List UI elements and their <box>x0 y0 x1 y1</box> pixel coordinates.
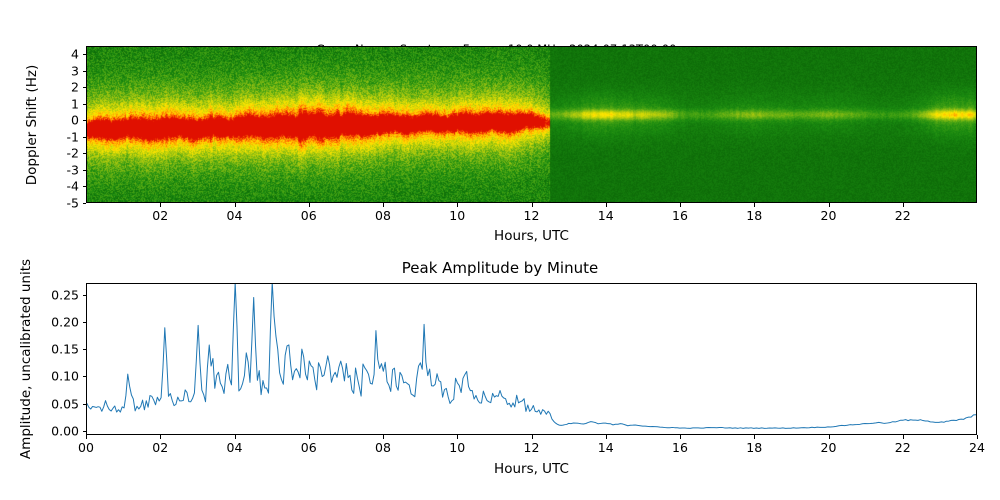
spectrogram-x-tick-label: 06 <box>301 208 317 223</box>
amplitude-x-tick-label: 00 <box>78 440 94 455</box>
amplitude-x-tick <box>829 435 830 439</box>
amplitude-y-tick <box>83 349 87 350</box>
amplitude-x-tick <box>235 435 236 439</box>
amplitude-y-tick <box>83 376 87 377</box>
amplitude-y-tick-label: 0.25 <box>42 287 79 302</box>
spectrogram-y-tick-label: -1 <box>46 129 79 144</box>
amplitude-x-tick-label: 22 <box>895 440 911 455</box>
amplitude-x-tick <box>383 435 384 439</box>
spectrogram-x-tick-label: 04 <box>227 208 243 223</box>
spectrogram-x-tick <box>903 203 904 207</box>
amplitude-y-axis-title: Amplitude, uncalibrated units <box>18 259 34 459</box>
spectrogram-x-tick-label: 08 <box>375 208 391 223</box>
amplitude-x-tick-label: 12 <box>524 440 540 455</box>
spectrogram-y-tick-label: -2 <box>46 146 79 161</box>
spectrogram-y-tick-label: 0 <box>46 113 79 128</box>
spectrogram-y-tick-label: -3 <box>46 162 79 177</box>
amplitude-x-tick-label: 08 <box>375 440 391 455</box>
amplitude-x-tick-label: 14 <box>598 440 614 455</box>
amplitude-line-chart <box>87 284 976 434</box>
spectrogram-y-tick-label: 4 <box>46 47 79 62</box>
spectrogram-x-tick <box>457 203 458 207</box>
spectrogram-x-tick-label: 20 <box>821 208 837 223</box>
amplitude-x-tick <box>606 435 607 439</box>
grape-spectrum-figure: Grape Narrow Spectrum, Freq. = 10.0 MHz,… <box>0 0 1000 500</box>
amplitude-y-tick <box>83 431 87 432</box>
spectrogram-x-tick <box>754 203 755 207</box>
amplitude-y-tick <box>83 322 87 323</box>
amplitude-x-tick-label: 16 <box>672 440 688 455</box>
amplitude-x-tick <box>160 435 161 439</box>
amplitude-plot-title: Peak Amplitude by Minute <box>402 259 598 277</box>
amplitude-x-tick <box>754 435 755 439</box>
amplitude-x-tick-label: 10 <box>449 440 465 455</box>
spectrogram-plot-area <box>86 46 977 203</box>
amplitude-x-tick-label: 06 <box>301 440 317 455</box>
spectrogram-x-tick <box>160 203 161 207</box>
spectrogram-x-tick-label: 14 <box>598 208 614 223</box>
amplitude-x-tick <box>680 435 681 439</box>
amplitude-y-tick-label: 0.15 <box>42 342 79 357</box>
spectrogram-x-tick-label: 16 <box>672 208 688 223</box>
spectrogram-y-tick <box>83 104 87 105</box>
spectrogram-y-tick <box>83 71 87 72</box>
spectrogram-x-tick <box>606 203 607 207</box>
spectrogram-x-tick-label: 18 <box>746 208 762 223</box>
amplitude-y-tick <box>83 404 87 405</box>
spectrogram-x-tick-label: 02 <box>152 208 168 223</box>
spectrogram-y-axis-title: Doppler Shift (Hz) <box>24 64 40 184</box>
spectrogram-y-tick-label: -5 <box>46 196 79 211</box>
amplitude-y-tick-label: 0.05 <box>42 396 79 411</box>
amplitude-x-tick <box>532 435 533 439</box>
spectrogram-x-tick-label: 22 <box>895 208 911 223</box>
spectrogram-y-tick <box>83 153 87 154</box>
amplitude-series-line <box>87 284 976 428</box>
spectrogram-x-tick-label: 10 <box>449 208 465 223</box>
amplitude-x-tick <box>457 435 458 439</box>
spectrogram-y-tick <box>83 87 87 88</box>
spectrogram-y-tick-label: -4 <box>46 179 79 194</box>
amplitude-x-tick-label: 24 <box>969 440 985 455</box>
spectrogram-y-tick <box>83 170 87 171</box>
amplitude-y-tick-label: 0.20 <box>42 315 79 330</box>
spectrogram-y-tick-label: 2 <box>46 80 79 95</box>
amplitude-x-tick <box>903 435 904 439</box>
spectrogram-x-tick <box>532 203 533 207</box>
amplitude-y-tick <box>83 295 87 296</box>
amplitude-y-tick-label: 0.10 <box>42 369 79 384</box>
amplitude-x-tick-label: 04 <box>227 440 243 455</box>
spectrogram-y-tick <box>83 186 87 187</box>
amplitude-x-axis-title: Hours, UTC <box>494 461 569 477</box>
spectrogram-y-tick <box>83 203 87 204</box>
spectrogram-x-axis-title: Hours, UTC <box>494 228 569 244</box>
spectrogram-x-tick <box>235 203 236 207</box>
spectrogram-y-tick <box>83 137 87 138</box>
spectrogram-y-tick-label: 1 <box>46 96 79 111</box>
spectrogram-x-tick-label: 12 <box>524 208 540 223</box>
spectrogram-y-tick-label: 3 <box>46 63 79 78</box>
amplitude-x-tick-label: 18 <box>746 440 762 455</box>
amplitude-y-tick-label: 0.00 <box>42 423 79 438</box>
spectrogram-x-tick <box>383 203 384 207</box>
amplitude-x-tick <box>977 435 978 439</box>
amplitude-x-tick-label: 02 <box>152 440 168 455</box>
spectrogram-x-tick <box>680 203 681 207</box>
amplitude-plot-area <box>86 283 977 435</box>
spectrogram-image <box>87 47 976 202</box>
spectrogram-x-tick <box>829 203 830 207</box>
amplitude-x-tick <box>309 435 310 439</box>
spectrogram-x-tick <box>309 203 310 207</box>
spectrogram-y-tick <box>83 54 87 55</box>
spectrogram-y-tick <box>83 120 87 121</box>
amplitude-x-tick <box>86 435 87 439</box>
amplitude-x-tick-label: 20 <box>821 440 837 455</box>
